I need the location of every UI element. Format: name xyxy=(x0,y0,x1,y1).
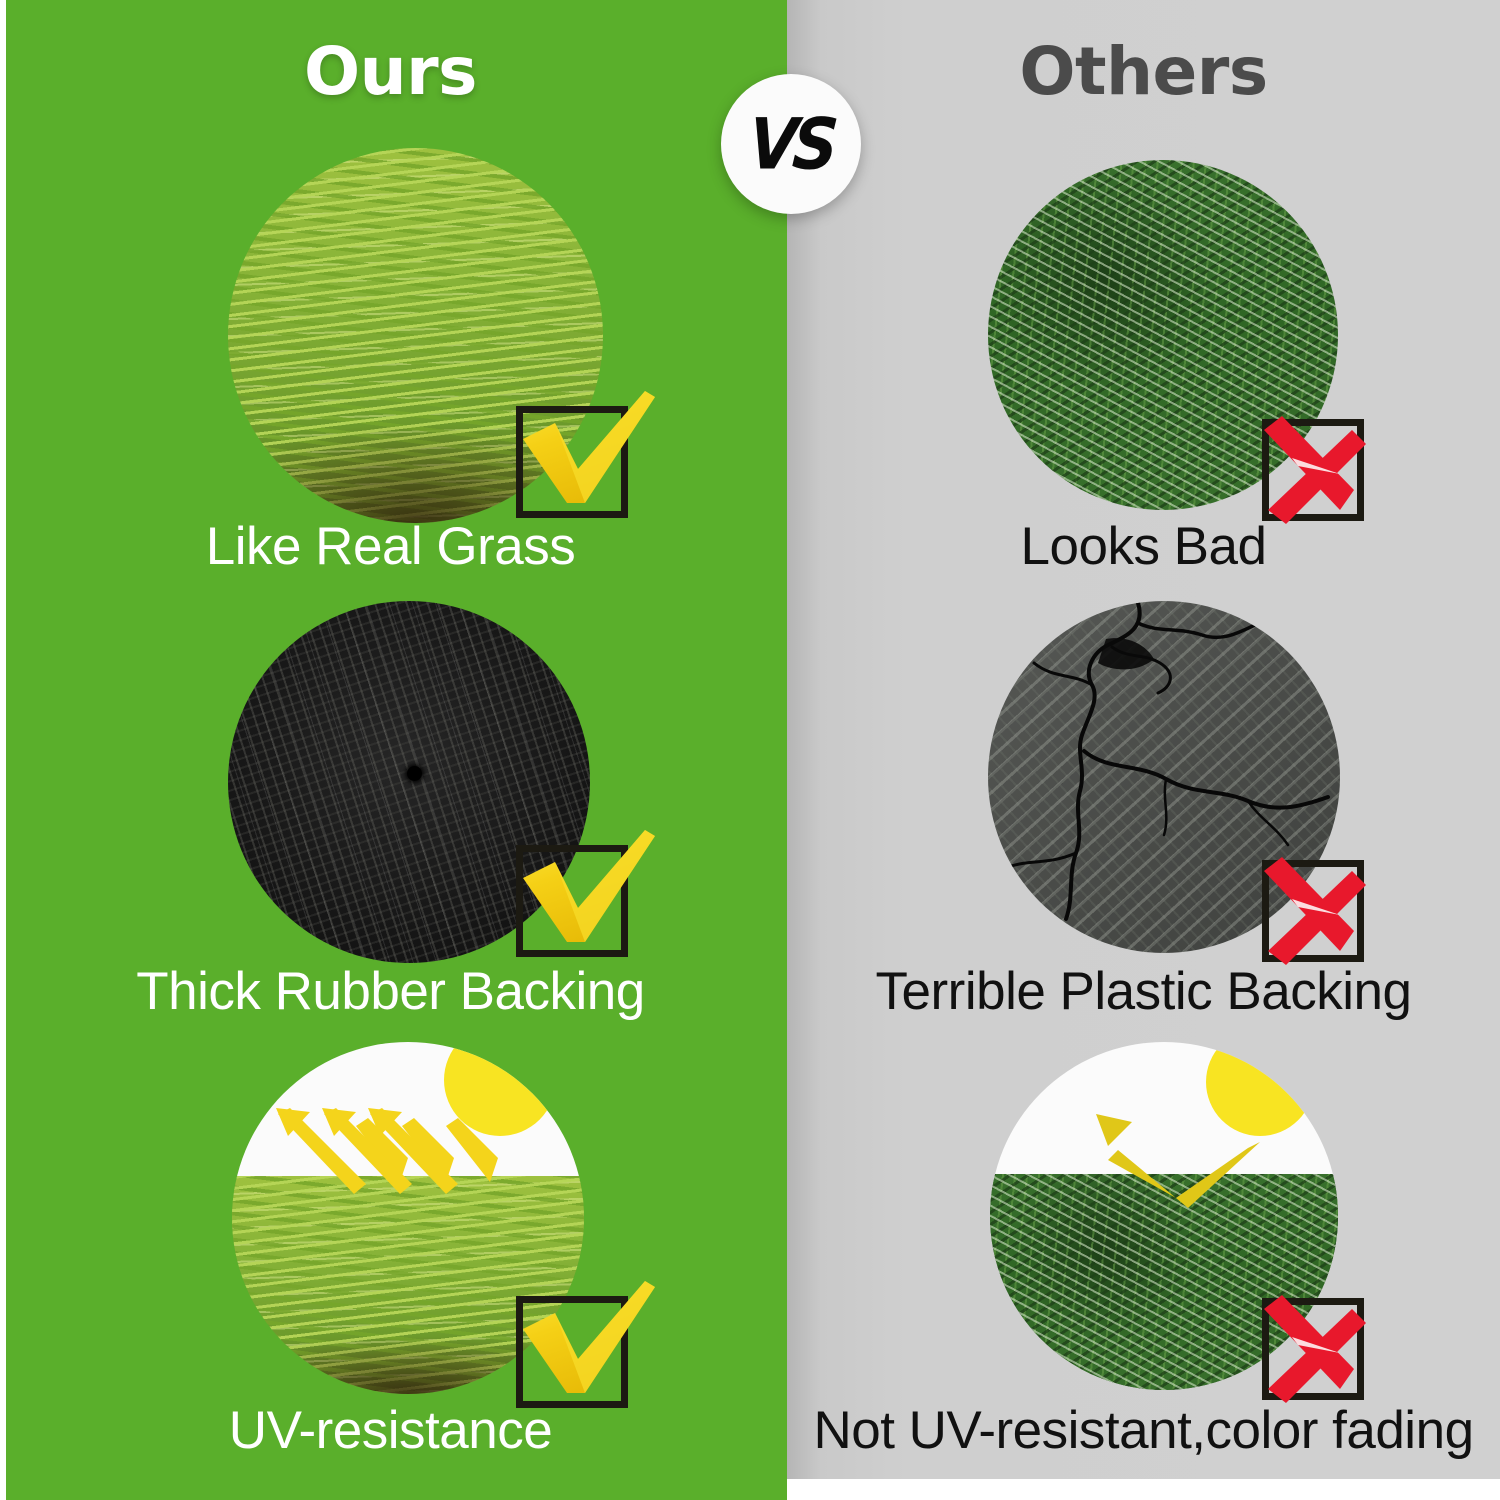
others-column-title: Others xyxy=(787,33,1500,110)
cross-mark-icon xyxy=(1248,841,1378,971)
ours-row-3-caption: UV-resistance xyxy=(0,1400,781,1461)
others-row-2-caption: Terrible Plastic Backing xyxy=(787,961,1500,1022)
drainage-hole-icon xyxy=(407,766,422,781)
ours-row-1-caption: Like Real Grass xyxy=(0,516,781,577)
others-row-3-caption: Not UV-resistant,color fading xyxy=(787,1400,1500,1461)
ours-column-title: Ours xyxy=(0,33,781,110)
check-mark-icon xyxy=(505,1275,660,1400)
cross-mark-icon xyxy=(1248,1279,1378,1409)
check-mark-icon xyxy=(505,824,660,949)
ours-row-2-caption: Thick Rubber Backing xyxy=(0,961,781,1022)
others-row-1-caption: Looks Bad xyxy=(787,516,1500,577)
comparison-infographic: Ours Others VS Like Real Grass xyxy=(0,0,1500,1500)
vs-badge-icon: VS xyxy=(721,74,861,214)
cross-mark-icon xyxy=(1248,400,1378,530)
vs-badge-label: VS xyxy=(746,109,835,180)
check-mark-icon xyxy=(505,385,660,510)
